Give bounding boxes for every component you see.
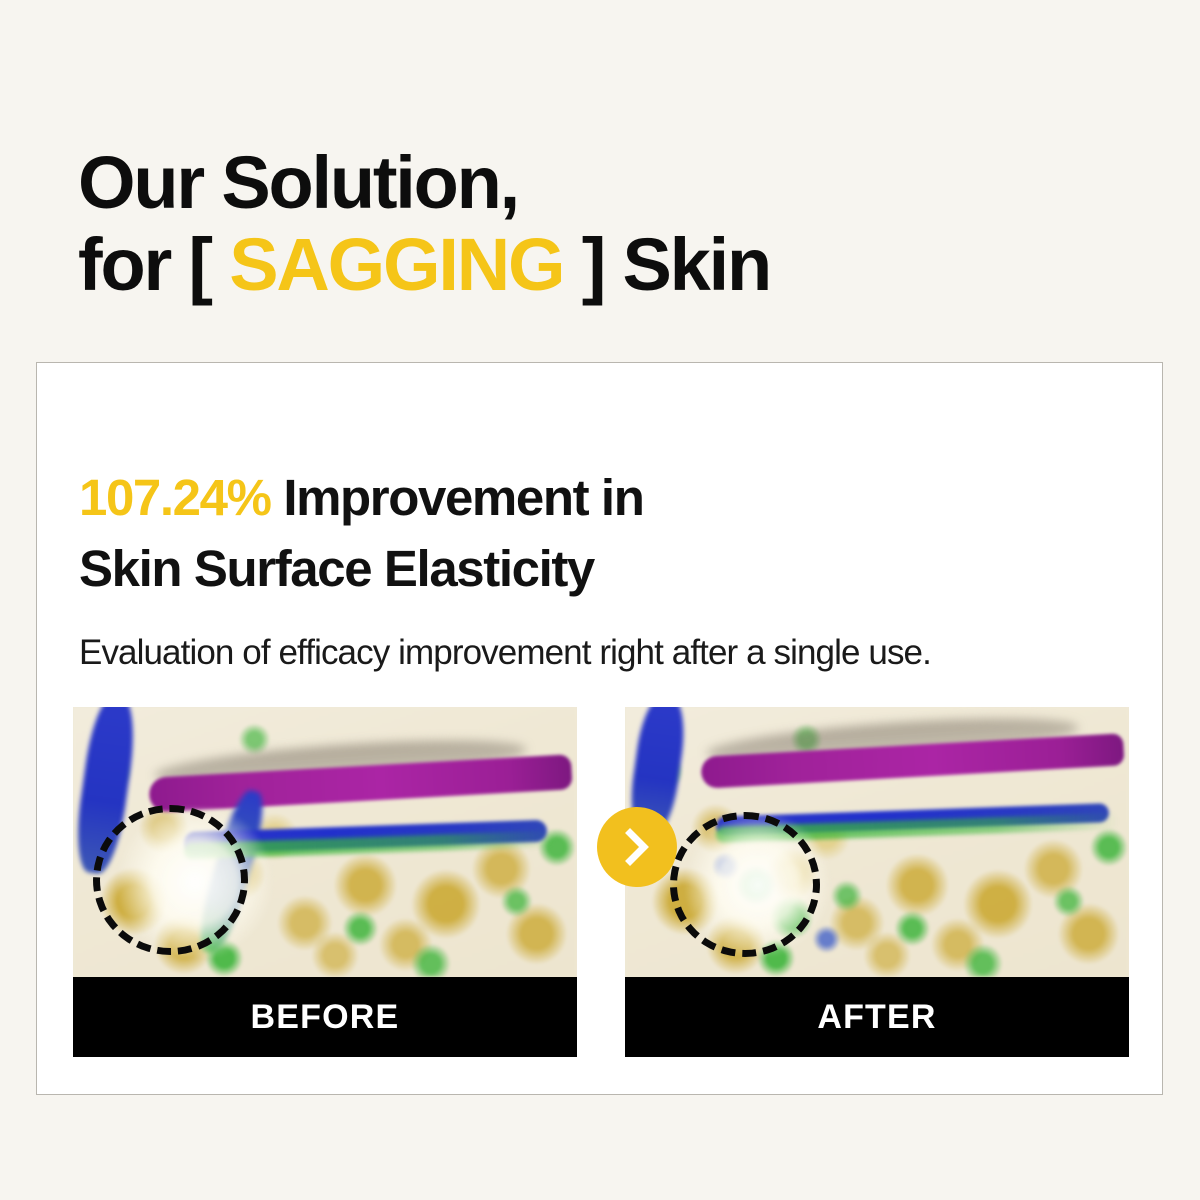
headline-space-1 bbox=[211, 223, 229, 306]
panel-label-after: AFTER bbox=[817, 998, 936, 1037]
card-subtitle: Evaluation of efficacy improvement right… bbox=[79, 633, 1129, 673]
stat-line-1: 107.24% Improvement in bbox=[79, 463, 1119, 533]
stat-line-2: Skin Surface Elasticity bbox=[79, 534, 1119, 604]
headline-line-1: Our Solution, bbox=[78, 142, 1128, 225]
scan-image-after bbox=[625, 707, 1129, 977]
headline-bracket-close: ] bbox=[582, 223, 604, 306]
panel-after: AFTER bbox=[625, 707, 1129, 1057]
panel-label-before: BEFORE bbox=[251, 998, 400, 1037]
stat-number: 107.24% bbox=[79, 469, 271, 526]
chevron-right-icon[interactable] bbox=[597, 807, 677, 887]
headline-accent-word: SAGGING bbox=[229, 223, 563, 306]
efficacy-card: 107.24% Improvement in Skin Surface Elas… bbox=[36, 362, 1163, 1095]
stat-heading: 107.24% Improvement in Skin Surface Elas… bbox=[79, 463, 1119, 604]
page-title: Our Solution, for [ SAGGING ] Skin bbox=[78, 142, 1128, 308]
label-bar-after: AFTER bbox=[625, 977, 1129, 1057]
before-after-comparison: BEFORE bbox=[73, 707, 1129, 1057]
dashed-circle-highlight-before bbox=[93, 805, 248, 955]
headline-space-2 bbox=[563, 223, 581, 306]
headline-line-2: for [ SAGGING ] Skin bbox=[78, 224, 1128, 307]
scan-image-before bbox=[73, 707, 577, 977]
label-bar-before: BEFORE bbox=[73, 977, 577, 1057]
headline-prefix: for bbox=[78, 223, 188, 306]
headline-bracket-open: [ bbox=[188, 223, 210, 306]
dashed-circle-highlight-after bbox=[670, 812, 820, 957]
stat-line-1-rest: Improvement in bbox=[271, 469, 644, 526]
panel-before: BEFORE bbox=[73, 707, 577, 1057]
promo-page: Our Solution, for [ SAGGING ] Skin 107.2… bbox=[0, 0, 1200, 1200]
headline-suffix: Skin bbox=[604, 223, 770, 306]
